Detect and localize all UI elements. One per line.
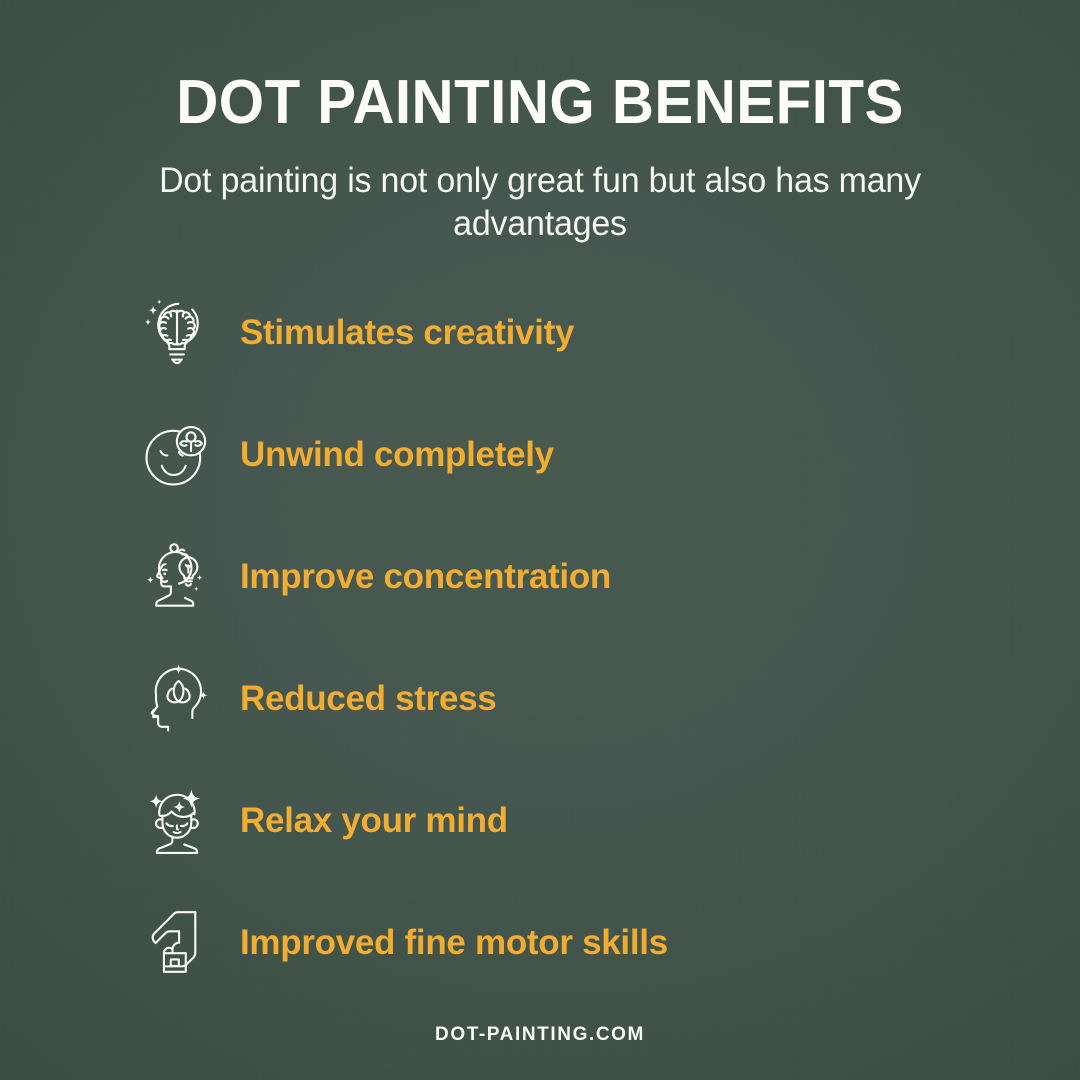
benefit-label: Improved fine motor skills [240, 925, 668, 960]
serene-woman-sparkles-icon [134, 777, 220, 863]
brain-lightbulb-icon [134, 289, 220, 375]
list-item: Reduced stress [134, 654, 954, 742]
website-url: DOT-PAINTING.COM [435, 1024, 645, 1045]
list-item: Relax your mind [134, 776, 954, 864]
poster-header: DOT PAINTING BENEFITS Dot painting is no… [0, 0, 1080, 245]
benefit-label: Improve concentration [240, 559, 611, 594]
benefits-list: Stimulates creativity [134, 288, 954, 986]
benefit-label: Unwind completely [240, 437, 554, 472]
list-item: Stimulates creativity [134, 288, 954, 376]
poster-canvas: DOT PAINTING BENEFITS Dot painting is no… [0, 0, 1080, 1080]
page-title: DOT PAINTING BENEFITS [32, 72, 1047, 134]
smiling-face-flower-icon [134, 411, 220, 497]
benefit-label: Stimulates creativity [240, 315, 574, 350]
list-item: Unwind completely [134, 410, 954, 498]
head-profile-lotus-icon [134, 655, 220, 741]
benefit-label: Relax your mind [240, 803, 508, 838]
poster-footer: DOT-PAINTING.COM [0, 1024, 1080, 1046]
hand-pinching-block-icon [134, 899, 220, 985]
list-item: Improved fine motor skills [134, 898, 954, 986]
head-profile-lightbulb-icon [134, 533, 220, 619]
page-subtitle: Dot painting is not only great fun but a… [157, 160, 923, 245]
list-item: Improve concentration [134, 532, 954, 620]
benefit-label: Reduced stress [240, 681, 496, 716]
